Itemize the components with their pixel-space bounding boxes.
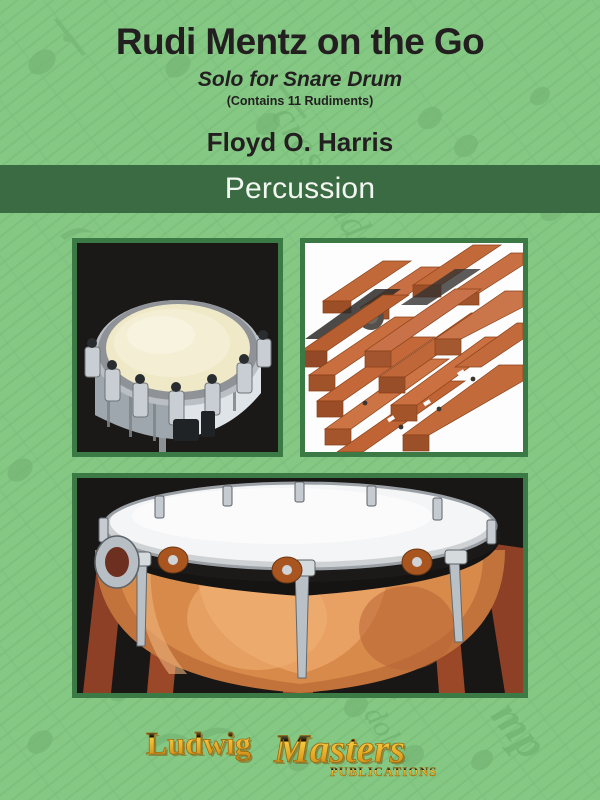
page-title: Rudi Mentz on the Go	[0, 22, 600, 62]
svg-text:PUBLICATIONS: PUBLICATIONS	[330, 765, 437, 779]
photo-row-top	[72, 238, 528, 457]
instrument-banner-label: Percussion	[225, 172, 375, 206]
instrument-banner: Percussion	[0, 165, 600, 213]
publisher-logo: Ludwig Ludwig Masters Masters PUBLICATIO…	[0, 718, 600, 787]
subtitle: Solo for Snare Drum	[0, 68, 600, 91]
composer-name: Floyd O. Harris	[0, 127, 600, 158]
timpani-photo	[72, 473, 528, 698]
svg-text:Ludwig: Ludwig	[146, 725, 251, 761]
snare-drum-photo	[72, 238, 283, 457]
title-block: Rudi Mentz on the Go Solo for Snare Drum…	[0, 0, 600, 158]
sheet-music-cover: crescendo mp dolce Rudi Mentz on the Go …	[0, 0, 600, 800]
rudiments-note: (Contains 11 Rudiments)	[0, 94, 600, 108]
mallet-percussion-photo	[300, 238, 528, 457]
photo-collage	[72, 238, 528, 698]
